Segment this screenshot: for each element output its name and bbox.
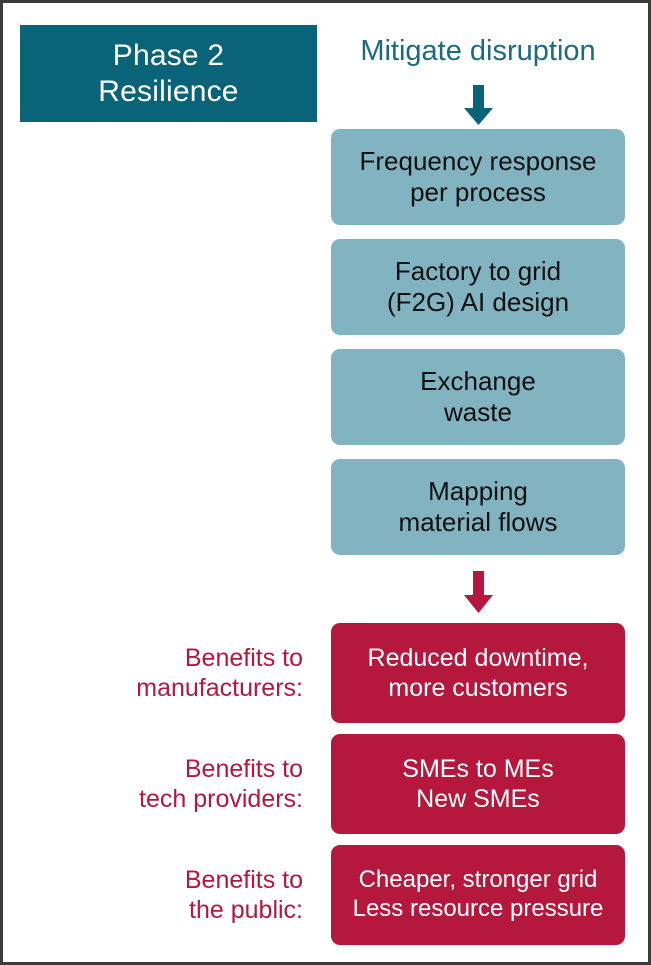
benefit-box-tech-providers-line-1: SMEs to MEs xyxy=(402,754,553,784)
process-box-4-line-1: Mapping xyxy=(428,476,528,507)
benefit-label-tech-providers-line-2: tech providers: xyxy=(139,784,303,815)
process-box-4[interactable]: Mapping material flows xyxy=(331,459,625,555)
process-box-2-line-2: (F2G) AI design xyxy=(387,287,569,318)
benefit-box-tech-providers[interactable]: SMEs to MEs New SMEs xyxy=(331,734,625,834)
phase-header-line-2: Resilience xyxy=(98,74,238,109)
down-arrow-red xyxy=(464,571,493,613)
benefit-box-manufacturers[interactable]: Reduced downtime, more customers xyxy=(331,623,625,723)
process-box-1-line-1: Frequency response xyxy=(359,146,596,177)
benefit-box-public-line-1: Cheaper, stronger grid xyxy=(359,866,598,895)
process-box-1-line-2: per process xyxy=(410,177,546,208)
benefit-box-public[interactable]: Cheaper, stronger grid Less resource pre… xyxy=(331,845,625,945)
process-box-3-line-1: Exchange xyxy=(420,366,536,397)
process-box-3-line-2: waste xyxy=(444,397,512,428)
section-title: Mitigate disruption xyxy=(331,36,625,68)
process-box-3[interactable]: Exchange waste xyxy=(331,349,625,445)
process-box-1[interactable]: Frequency response per process xyxy=(331,129,625,225)
benefit-label-tech-providers: Benefits to tech providers: xyxy=(3,734,317,834)
benefit-label-tech-providers-line-1: Benefits to xyxy=(185,754,303,785)
benefit-label-public: Benefits to the public: xyxy=(3,845,317,945)
benefit-label-public-line-1: Benefits to xyxy=(185,865,303,896)
benefit-box-manufacturers-line-1: Reduced downtime, xyxy=(368,643,589,673)
benefit-box-manufacturers-line-2: more customers xyxy=(388,673,567,703)
process-box-2-line-1: Factory to grid xyxy=(395,256,561,287)
phase-header-box: Phase 2 Resilience xyxy=(20,25,317,122)
benefit-label-manufacturers-line-1: Benefits to xyxy=(185,643,303,674)
benefit-box-public-line-2: Less resource pressure xyxy=(353,895,604,924)
benefit-label-public-line-2: the public: xyxy=(189,895,303,926)
process-box-2[interactable]: Factory to grid (F2G) AI design xyxy=(331,239,625,335)
slide-canvas: Phase 2 Resilience Mitigate disruption F… xyxy=(0,0,651,965)
benefit-label-manufacturers: Benefits to manufacturers: xyxy=(3,623,317,723)
down-arrow-teal xyxy=(464,85,493,125)
benefit-box-tech-providers-line-2: New SMEs xyxy=(416,784,540,814)
phase-header-line-1: Phase 2 xyxy=(113,38,224,73)
benefit-label-manufacturers-line-2: manufacturers: xyxy=(136,673,303,704)
process-box-4-line-2: material flows xyxy=(399,507,558,538)
